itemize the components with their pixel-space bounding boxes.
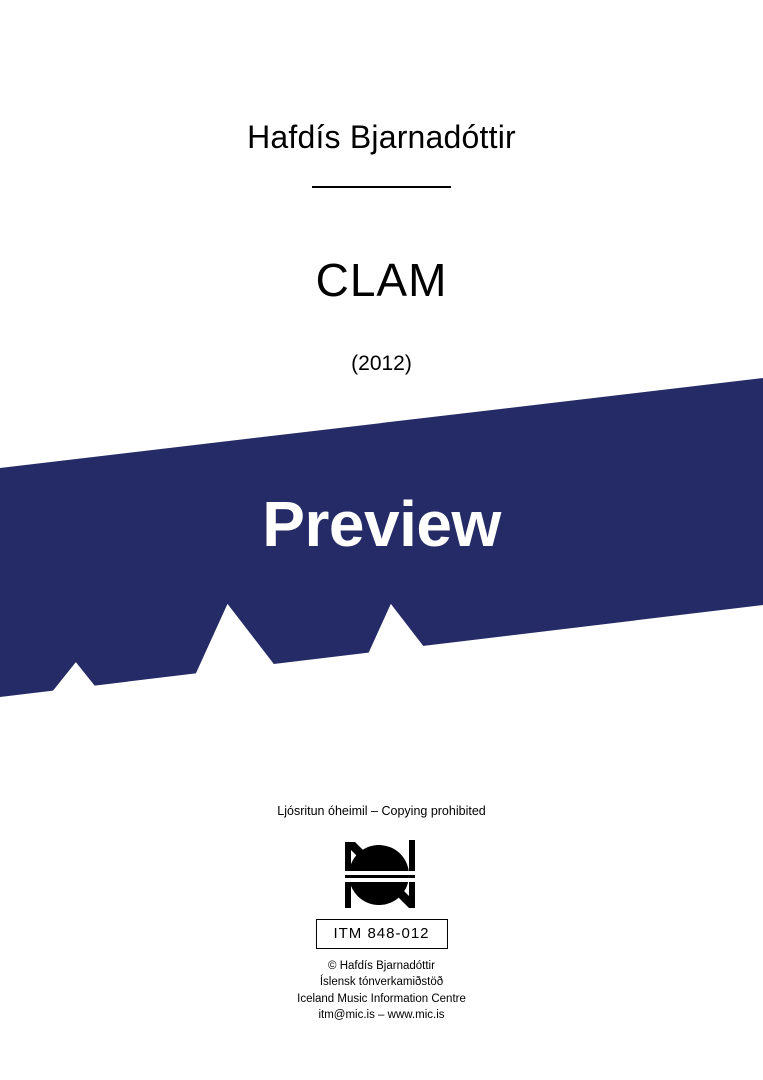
composer-name: Hafdís Bjarnadóttir <box>0 119 763 156</box>
itm-circle-logo <box>343 840 421 910</box>
imprint-line: Íslensk tónverkamiðstöð <box>0 974 763 990</box>
publisher-logo <box>0 840 763 910</box>
imprint-block: © Hafdís Bjarnadóttir Íslensk tónverkami… <box>0 958 763 1023</box>
imprint-line: Iceland Music Information Centre <box>0 991 763 1007</box>
title-divider-rule <box>312 186 451 188</box>
composition-year: (2012) <box>0 352 763 376</box>
imprint-line: itm@mic.is – www.mic.is <box>0 1007 763 1023</box>
preview-watermark-banner: Preview Tónlistarmiðstöð Iceland Music <box>0 370 763 710</box>
catalog-number-box: ITM 848-012 <box>315 919 447 949</box>
brand-name-english: Iceland Music <box>662 738 763 753</box>
preview-label: Preview <box>0 492 763 556</box>
cover-page: Hafdís Bjarnadóttir CLAM (2012) Preview … <box>0 0 763 1080</box>
banner-shape <box>0 370 763 710</box>
brand-name-icelandic: Tónlistarmiðstöð <box>662 723 763 738</box>
imprint-line: © Hafdís Bjarnadóttir <box>0 958 763 974</box>
brand-text: Tónlistarmiðstöð Iceland Music <box>662 723 763 753</box>
work-title: CLAM <box>0 253 763 307</box>
banner-content: Preview Tónlistarmiðstöð Iceland Music <box>0 370 763 710</box>
copying-prohibited-notice: Ljósritun óheimil – Copying prohibited <box>0 804 763 818</box>
